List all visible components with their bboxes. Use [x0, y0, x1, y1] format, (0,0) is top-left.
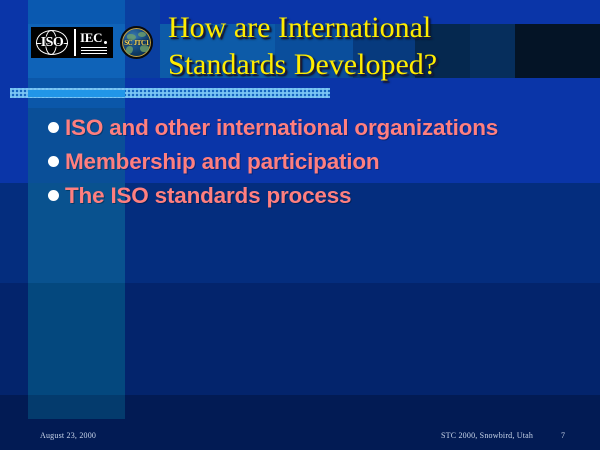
- footer-date: August 23, 2000: [40, 431, 96, 440]
- logo-divider: [74, 29, 76, 56]
- iso-logo-label: ISO: [41, 35, 64, 51]
- iec-dot-icon: [104, 41, 107, 44]
- footer-page-number: 7: [561, 431, 565, 440]
- jtc1-logo-label: SC JTC1: [124, 39, 149, 47]
- slide-title: How are International Standards Develope…: [168, 9, 588, 83]
- bullet-text: The ISO standards process: [65, 182, 351, 210]
- bullet-dot-icon: [48, 190, 59, 201]
- list-item: The ISO standards process: [48, 182, 568, 210]
- iso-iec-logo: ISO IEC: [31, 27, 113, 58]
- list-item: ISO and other international organization…: [48, 114, 568, 142]
- bullet-text: Membership and participation: [65, 148, 379, 176]
- iec-mark: IEC: [80, 29, 110, 56]
- presentation-slide: ISO IEC SC JTC1 How are International St…: [0, 0, 600, 450]
- left-column-segment-7: [28, 395, 125, 419]
- bullet-dot-icon: [48, 122, 59, 133]
- list-item: Membership and participation: [48, 148, 568, 176]
- iec-logo-label: IEC: [80, 30, 102, 46]
- bullet-dot-icon: [48, 156, 59, 167]
- footer-event-label: STC 2000, Snowbird, Utah: [441, 431, 533, 440]
- bullet-text: ISO and other international organization…: [65, 114, 498, 142]
- globe-landmass-icon-3: [126, 46, 133, 54]
- dotted-divider-highlight: [28, 90, 125, 97]
- background-square-mid-a: [125, 0, 160, 24]
- left-column-segment-1: [28, 0, 125, 24]
- bullet-list: ISO and other international organization…: [48, 114, 568, 216]
- jtc1-globe-logo: SC JTC1: [120, 26, 153, 59]
- iso-globe-icon: ISO: [34, 29, 70, 56]
- iec-lines-icon: [81, 46, 107, 54]
- background-square-left: [0, 0, 28, 24]
- left-column-segment-6: [28, 283, 125, 395]
- globe-landmass-icon-2: [138, 32, 146, 37]
